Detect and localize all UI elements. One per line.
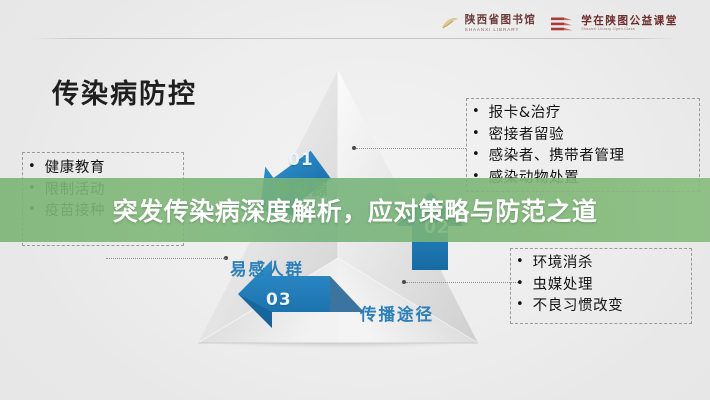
logo-group: 陕西省图书馆 SHAANXI LIBRARY 学在陕图公益课堂 Shaanxi … (440, 10, 678, 38)
list-item: • 环境消杀 (516, 255, 623, 272)
shaanxi-library-logo: 陕西省图书馆 SHAANXI LIBRARY (440, 15, 536, 32)
bullet-marker: • (516, 277, 524, 292)
list-item: • 感染者、携带者管理 (472, 148, 625, 165)
route-measures: • 环境消杀 • 虫媒处理 • 不良习惯改变 (516, 255, 623, 320)
gongyi-class-logo-cn: 学在陕图公益课堂 (581, 16, 678, 27)
gongyi-class-logo: 学在陕图公益课堂 Shaanxi Library Open Class (550, 16, 678, 32)
segment-label-route: 传播途径 (360, 301, 434, 325)
list-item: • 报卡&治疗 (472, 105, 625, 122)
list-item: • 虫媒处理 (516, 277, 623, 294)
bullet-marker: • (472, 105, 480, 120)
list-item: • 不良习惯改变 (516, 298, 623, 315)
open-class-mark-icon (550, 16, 576, 32)
banner-headline: 突发传染病深度解析，应对策略与防范之道 (0, 178, 710, 242)
list-item-label: 虫媒处理 (533, 277, 593, 294)
leader-source (356, 148, 466, 149)
list-item-label: 报卡&治疗 (489, 105, 561, 122)
gongyi-class-logo-en: Shaanxi Library Open Class (581, 28, 678, 32)
shaanxi-library-logo-cn: 陕西省图书馆 (465, 15, 536, 26)
bullet-marker: • (28, 160, 36, 175)
list-item: • 密接者留验 (472, 127, 625, 144)
shaanxi-library-logo-en: SHAANXI LIBRARY (465, 28, 536, 33)
list-item-label: 环境消杀 (533, 255, 593, 272)
list-item: • 健康教育 (28, 160, 105, 177)
segment-number-01: 01 (288, 150, 314, 170)
list-item-label: 感染者、携带者管理 (489, 148, 625, 165)
shaanxi-library-logo-text: 陕西省图书馆 SHAANXI LIBRARY (465, 15, 536, 32)
slide-canvas: 陕西省图书馆 SHAANXI LIBRARY 学在陕图公益课堂 Shaanxi … (0, 0, 710, 400)
leader-route (406, 282, 518, 283)
segment-number-03: 03 (266, 290, 292, 310)
header-divider (34, 38, 676, 39)
segment-label-population: 易感人群 (230, 256, 304, 280)
leader-population (106, 258, 226, 259)
bullet-marker: • (516, 255, 524, 270)
bullet-marker: • (472, 148, 480, 163)
gongyi-class-logo-text: 学在陕图公益课堂 Shaanxi Library Open Class (581, 16, 678, 32)
bullet-marker: • (472, 127, 480, 142)
list-item-label: 密接者留验 (489, 127, 565, 144)
library-seal-icon (440, 16, 460, 32)
list-item-label: 健康教育 (45, 160, 105, 177)
list-item-label: 不良习惯改变 (533, 298, 624, 315)
page-title: 传染病防控 (52, 72, 197, 111)
bullet-marker: • (516, 298, 524, 313)
